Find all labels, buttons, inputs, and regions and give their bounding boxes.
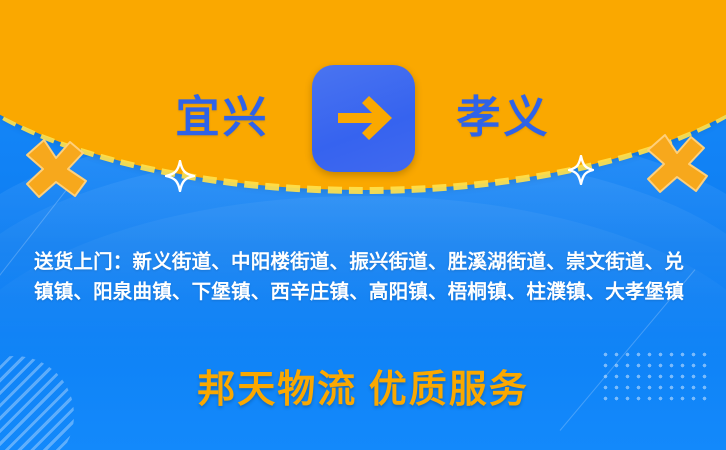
- arrow-right-icon: [332, 95, 394, 141]
- delivery-areas-text: 送货上门：新义街道、中阳楼街道、振兴街道、胜溪湖街道、崇文街道、兑镇镇、阳泉曲镇…: [34, 248, 692, 308]
- destination-city-label: 孝义: [457, 96, 551, 140]
- company-slogan: 邦天物流 优质服务: [0, 358, 726, 413]
- route-header: 宜兴 孝义: [0, 63, 726, 173]
- logistics-route-banner: 宜兴 孝义 送货上门：新义街道、中阳楼街道、振兴街道、胜溪湖街道、: [0, 0, 726, 450]
- route-arrow-box: [312, 65, 415, 172]
- origin-city-label: 宜兴: [176, 96, 270, 140]
